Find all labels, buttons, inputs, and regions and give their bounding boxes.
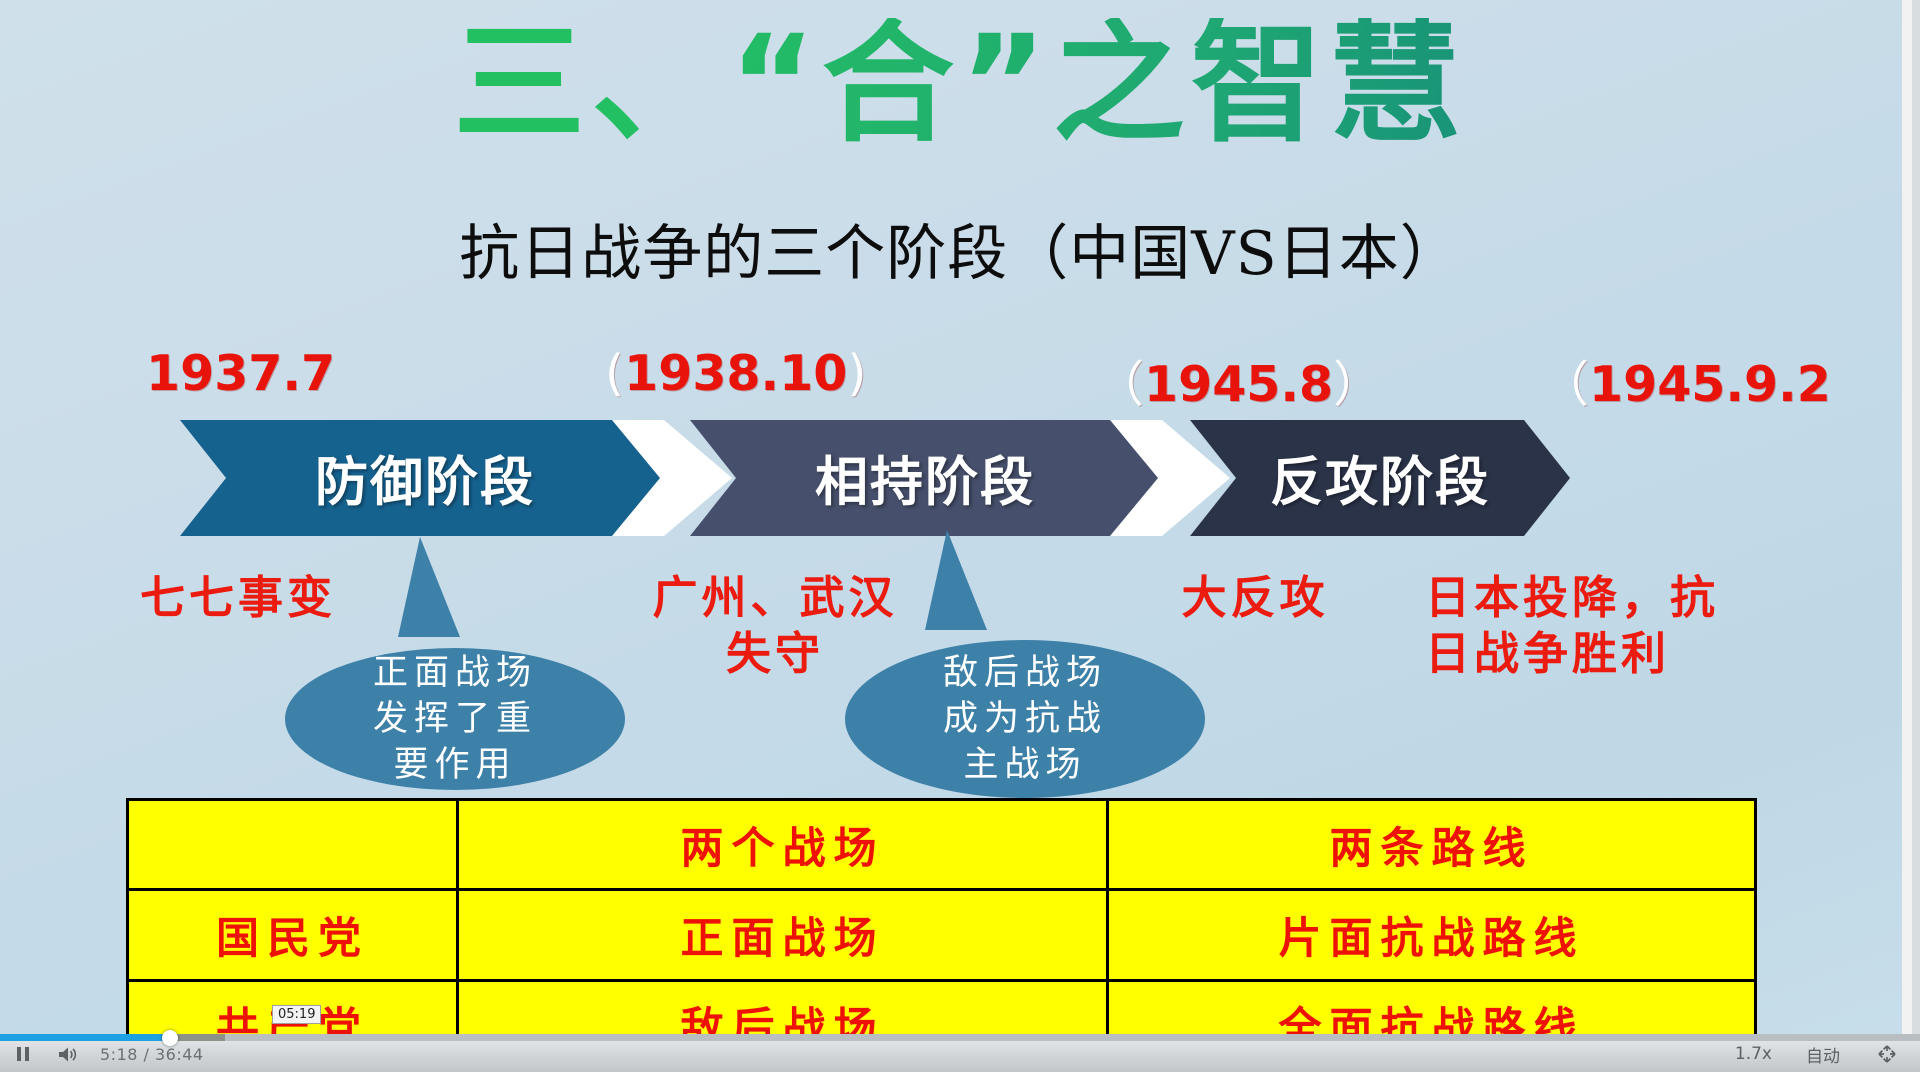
table-cell-1-2: 片面抗战路线 xyxy=(1108,890,1756,980)
timeline-date-1-open-paren: ( xyxy=(605,345,624,402)
annotation-1: 广州、武汉 失守 xyxy=(615,570,935,683)
stage-chevron-counterattack: 反攻阶段 xyxy=(1190,420,1570,536)
slide-canvas: 三、“合”之智慧 抗日战争的三个阶段（中国VS日本） 1937.7 (1938.… xyxy=(0,0,1920,1072)
timeline-date-2-close-paren: ） xyxy=(1333,356,1382,413)
table-cell-0-1: 两个战场 xyxy=(458,800,1108,890)
stage-label-counterattack: 反攻阶段 xyxy=(1270,440,1490,516)
progress-bar-track[interactable] xyxy=(0,1034,1920,1041)
callout-bubble-0: 正面战场 发挥了重 要作用 xyxy=(285,648,625,790)
timeline-date-1-value: 1938.10 xyxy=(624,345,847,402)
table-cell-1-0: 国民党 xyxy=(128,890,458,980)
annotation-0: 七七事变 xyxy=(140,570,470,626)
table-cell-0-0 xyxy=(128,800,458,890)
video-control-bar[interactable]: 5:18 / 36:44 1.7x 自动 xyxy=(0,1036,1920,1072)
page-title: 三、“合”之智慧 xyxy=(0,18,1920,150)
volume-icon[interactable] xyxy=(46,1036,90,1072)
pause-icon[interactable] xyxy=(0,1036,46,1072)
timeline-date-1: (1938.10) xyxy=(605,345,866,402)
video-right-gutter-inner xyxy=(1912,0,1920,1037)
player-right-controls: 1.7x 自动 xyxy=(1735,1036,1900,1072)
timeline-date-1-close-paren: ) xyxy=(847,345,866,402)
stage-chevron-defense: 防御阶段 xyxy=(180,420,670,536)
video-right-gutter xyxy=(1902,0,1920,1037)
page-subtitle: 抗日战争的三个阶段（中国VS日本） xyxy=(0,205,1920,292)
timeline-banner: 防御阶段 相持阶段 反攻阶段 xyxy=(180,420,1570,536)
timeline-date-2-value: 1945.8 xyxy=(1144,356,1333,413)
progress-bar-scrubber[interactable] xyxy=(162,1030,178,1046)
time-display: 5:18 / 36:44 xyxy=(100,1045,204,1064)
table-row: 国民党 正面战场 片面抗战路线 xyxy=(128,890,1756,980)
comparison-table: 两个战场 两条路线 国民党 正面战场 片面抗战路线 共产党 敌后战场 全面抗战路… xyxy=(126,798,1757,1072)
callout-bubble-1-text: 敌后战场 成为抗战 主战场 xyxy=(943,650,1107,789)
quality-button[interactable]: 自动 xyxy=(1806,1042,1840,1067)
callout-bubble-1: 敌后战场 成为抗战 主战场 xyxy=(845,640,1205,798)
timeline-date-0-value: 1937.7 xyxy=(146,345,335,402)
annotation-3: 日本投降，抗 日战争胜利 xyxy=(1425,570,1805,683)
playback-speed-button[interactable]: 1.7x xyxy=(1735,1044,1772,1064)
timeline-date-2-open-paren: （ xyxy=(1095,356,1144,413)
timeline-date-3-open-paren: （ xyxy=(1540,356,1589,413)
annotation-2: 大反攻 xyxy=(1110,570,1400,626)
fullscreen-icon[interactable] xyxy=(1874,1041,1900,1067)
progress-bar-buffer xyxy=(170,1034,225,1041)
table-cell-0-2: 两条路线 xyxy=(1108,800,1756,890)
stage-label-defense: 防御阶段 xyxy=(315,440,535,516)
callout-bubble-0-text: 正面战场 发挥了重 要作用 xyxy=(373,650,537,789)
progress-bar-fill xyxy=(0,1034,170,1041)
stage-chevron-stalemate: 相持阶段 xyxy=(690,420,1160,536)
table-row: 两个战场 两条路线 xyxy=(128,800,1756,890)
timeline-date-2: （1945.8） xyxy=(1095,345,1382,416)
timeline-date-3: （1945.9.2 xyxy=(1540,345,1831,416)
table-cell-1-1: 正面战场 xyxy=(458,890,1108,980)
stage-label-stalemate: 相持阶段 xyxy=(815,440,1035,516)
progress-time-tooltip: 05:19 xyxy=(272,1005,321,1024)
timeline-date-3-value: 1945.9.2 xyxy=(1589,356,1831,413)
timeline-date-0: 1937.7 xyxy=(146,345,335,402)
